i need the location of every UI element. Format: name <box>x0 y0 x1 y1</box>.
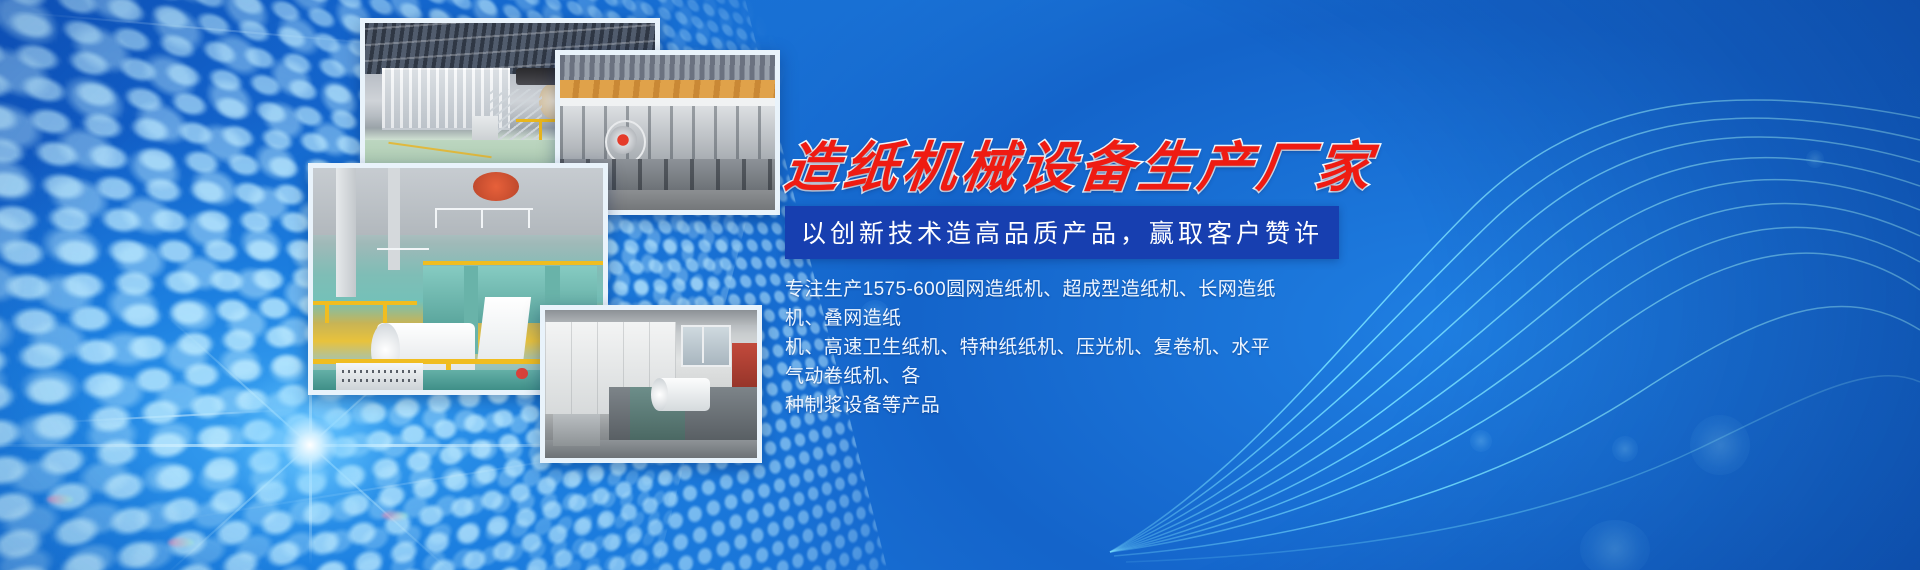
description-line-1: 专注生产1575-600圆网造纸机、超成型造纸机、长网造纸机、叠网造纸 <box>785 275 1277 333</box>
banner-text-block: 造纸机械设备生产厂家 以创新技术造高品质产品，赢取客户赞许 专注生产1575-6… <box>785 140 1485 420</box>
banner-headline: 造纸机械设备生产厂家 <box>782 140 1489 194</box>
description-line-3: 种制浆设备等产品 <box>785 391 1277 420</box>
banner-subtitle: 以创新技术造高品质产品，赢取客户赞许 <box>785 206 1339 259</box>
promo-banner: 造纸机械设备生产厂家 以创新技术造高品质产品，赢取客户赞许 专注生产1575-6… <box>0 0 1920 570</box>
banner-description: 专注生产1575-600圆网造纸机、超成型造纸机、长网造纸机、叠网造纸 机、高速… <box>785 275 1277 420</box>
description-line-2: 机、高速卫生纸机、特种纸纸机、压光机、复卷机、水平气动卷纸机、各 <box>785 333 1277 391</box>
